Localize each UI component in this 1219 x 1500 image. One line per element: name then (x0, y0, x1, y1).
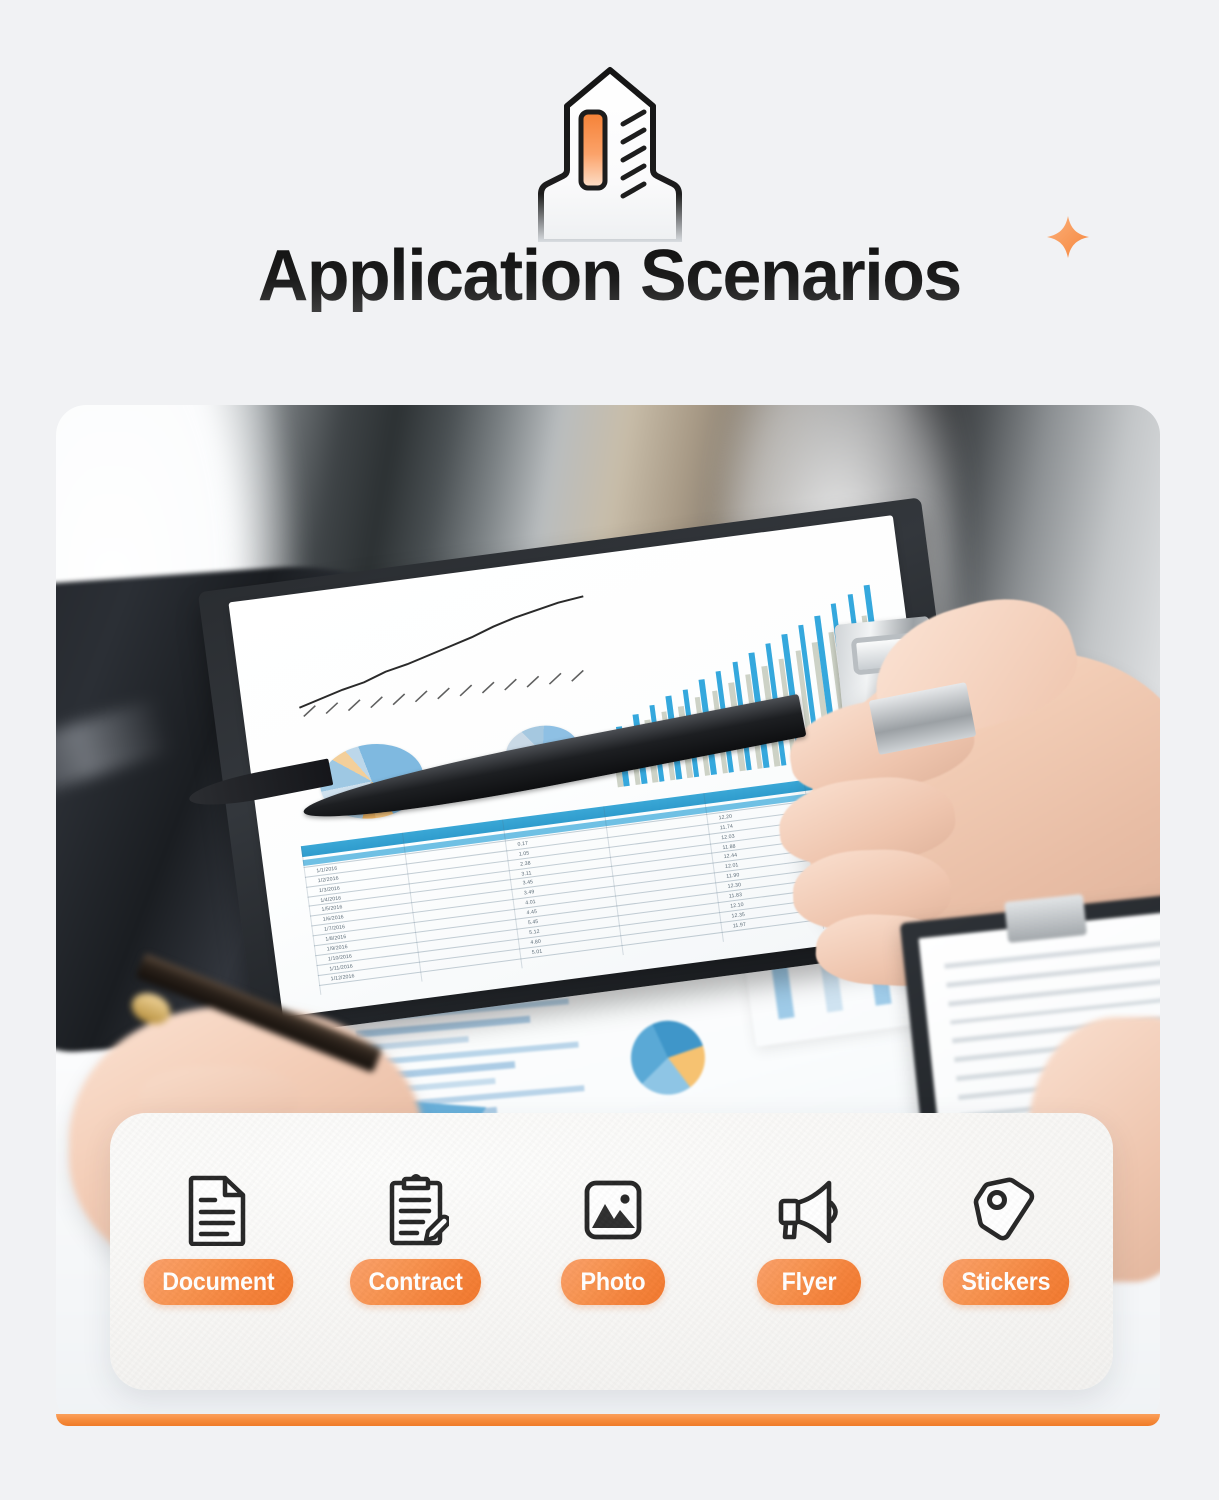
page-header: Application Scenarios (0, 0, 1219, 390)
badge-document[interactable]: Document (138, 1171, 299, 1305)
badge-label-document[interactable]: Document (144, 1259, 293, 1305)
badge-label-stickers[interactable]: Stickers (943, 1259, 1069, 1305)
window-panel (581, 112, 605, 188)
tag-icon (972, 1171, 1040, 1249)
scenario-badge-list: Document (110, 1171, 1113, 1305)
badge-label-contract[interactable]: Contract (350, 1259, 481, 1305)
clipboard-pen-icon (383, 1171, 449, 1249)
sparkle-icon (1045, 214, 1091, 260)
badge-stickers[interactable]: Stickers (926, 1171, 1085, 1305)
page-title-row: Application Scenarios (0, 240, 1219, 312)
megaphone-icon (773, 1171, 845, 1249)
line-chart-on-report (279, 588, 610, 721)
scenario-badge-card: Document (110, 1113, 1113, 1390)
badge-flyer[interactable]: Flyer (730, 1171, 889, 1305)
badge-photo[interactable]: Photo (533, 1171, 692, 1305)
badge-label-photo[interactable]: Photo (560, 1259, 664, 1305)
application-scenarios-page: Application Scenarios (0, 0, 1219, 1500)
badge-contract[interactable]: Contract (337, 1171, 496, 1305)
building-skyscraper-icon (505, 62, 715, 242)
page-title: Application Scenarios (258, 240, 961, 312)
badge-label-flyer[interactable]: Flyer (757, 1259, 861, 1305)
image-icon (581, 1171, 645, 1249)
orange-bottom-edge (56, 1414, 1160, 1426)
document-icon (187, 1171, 249, 1249)
